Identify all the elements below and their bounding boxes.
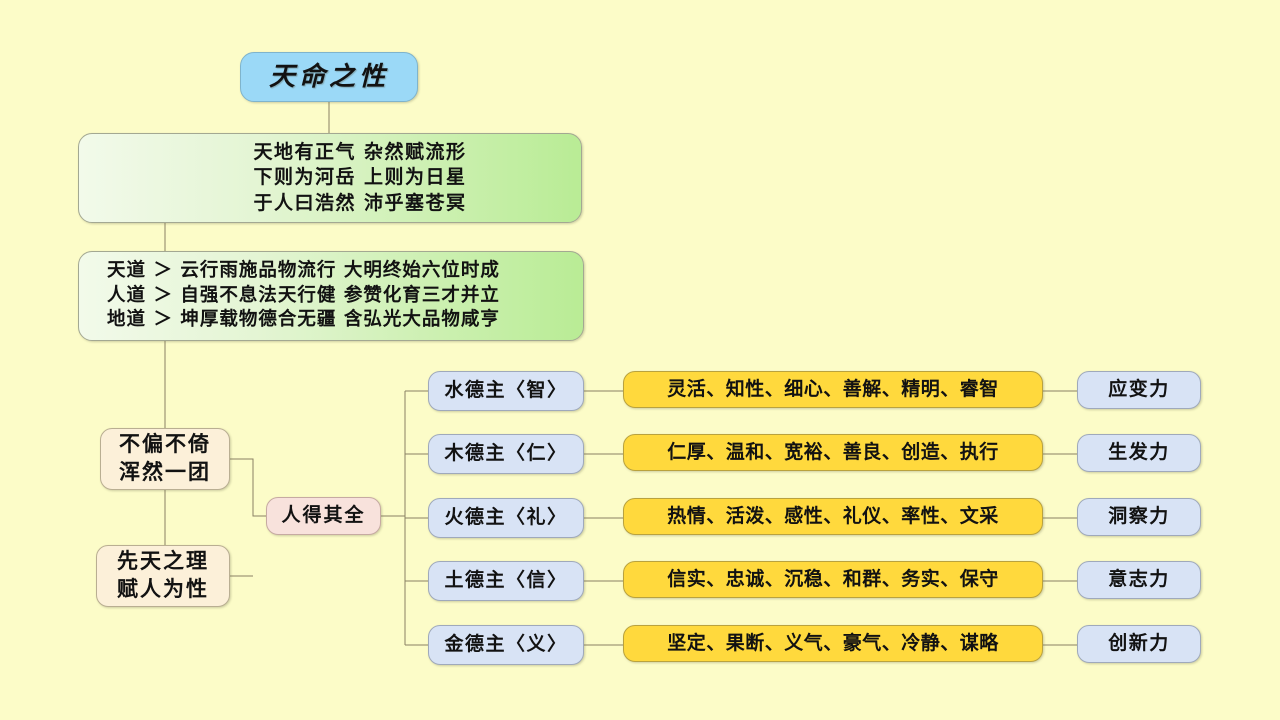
element-node-fire[interactable]: 火德主〈礼〉	[428, 498, 584, 538]
traits-node-fire[interactable]: 热情、活泼、感性、礼仪、率性、文采	[623, 498, 1043, 535]
root-title-node[interactable]: 天命之性	[240, 52, 418, 102]
element-node-earth[interactable]: 土德主〈信〉	[428, 561, 584, 601]
power-node-wood[interactable]: 生发力	[1077, 434, 1201, 472]
power-node-metal[interactable]: 创新力	[1077, 625, 1201, 663]
node-unbiased-whole[interactable]: 不偏不倚 浑然一团	[100, 428, 230, 490]
node-human-receives-all[interactable]: 人得其全	[266, 497, 381, 535]
verse-panel[interactable]: 天地有正气 杂然赋流形 下则为河岳 上则为日星 于人曰浩然 沛乎塞苍冥	[78, 133, 582, 223]
connector-lines	[0, 0, 1280, 720]
element-node-water[interactable]: 水德主〈智〉	[428, 371, 584, 411]
diagram-canvas: 天命之性 天地有正气 杂然赋流形 下则为河岳 上则为日星 于人曰浩然 沛乎塞苍冥…	[0, 0, 1280, 720]
traits-node-wood[interactable]: 仁厚、温和、宽裕、善良、创造、执行	[623, 434, 1043, 471]
traits-node-water[interactable]: 灵活、知性、细心、善解、精明、睿智	[623, 371, 1043, 408]
traits-node-metal[interactable]: 坚定、果断、义气、豪气、冷静、谋略	[623, 625, 1043, 662]
element-node-wood[interactable]: 木德主〈仁〉	[428, 434, 584, 474]
power-node-water[interactable]: 应变力	[1077, 371, 1201, 409]
traits-node-earth[interactable]: 信实、忠诚、沉稳、和群、务实、保守	[623, 561, 1043, 598]
node-innate-principle[interactable]: 先天之理 赋人为性	[96, 545, 230, 607]
element-node-metal[interactable]: 金德主〈义〉	[428, 625, 584, 665]
power-node-earth[interactable]: 意志力	[1077, 561, 1201, 599]
three-dao-panel[interactable]: 天道 ＞ 云行雨施品物流行 大明终始六位时成 人道 ＞ 自强不息法天行健 参赞化…	[78, 251, 584, 341]
power-node-fire[interactable]: 洞察力	[1077, 498, 1201, 536]
